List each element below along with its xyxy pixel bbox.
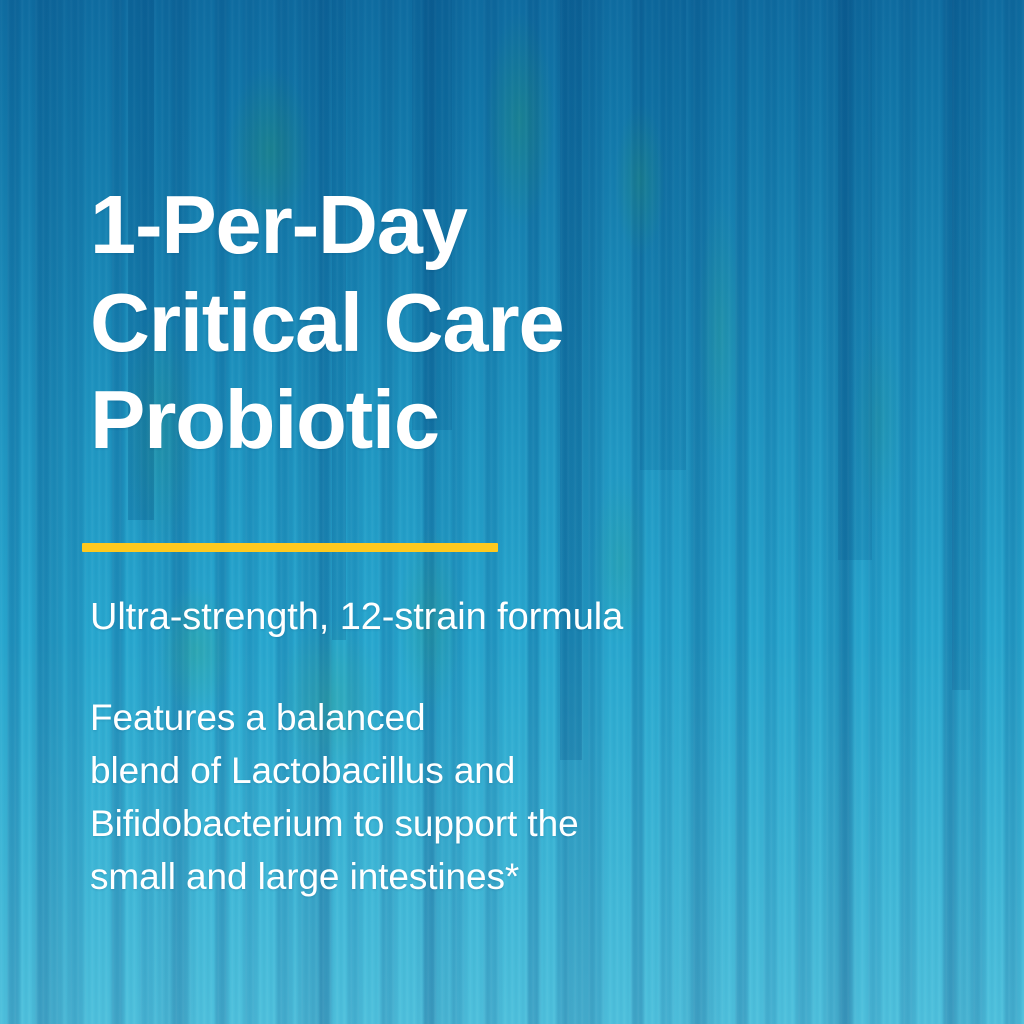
product-headline: 1-Per-Day Critical Care Probiotic	[90, 176, 563, 469]
product-marketing-card: 1-Per-Day Critical Care Probiotic Ultra-…	[0, 0, 1024, 1024]
product-subheadline: Ultra-strength, 12-strain formula	[90, 595, 623, 641]
product-description: Features a balanced blend of Lactobacill…	[90, 692, 579, 904]
accent-divider-rule	[82, 543, 498, 552]
card-content: 1-Per-Day Critical Care Probiotic Ultra-…	[90, 0, 950, 1024]
